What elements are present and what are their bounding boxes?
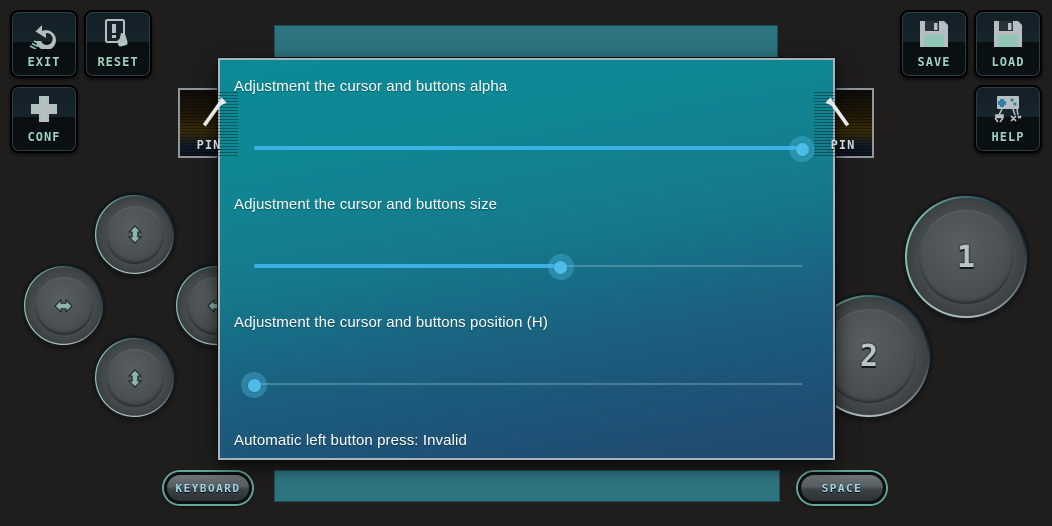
settings-dialog: Adjustment the cursor and buttons alpha … <box>218 58 835 460</box>
preference-cursor-size: Adjustment the cursor and buttons size <box>220 196 833 306</box>
exit-button[interactable]: EXIT <box>10 10 78 78</box>
slider-fill <box>254 146 802 150</box>
save-label: SAVE <box>918 55 951 69</box>
slider-thumb[interactable] <box>248 379 261 392</box>
load-button[interactable]: LOAD <box>974 10 1042 78</box>
preference-cursor-position-h: Adjustment the cursor and buttons positi… <box>220 314 833 424</box>
undo-arrow-icon <box>12 17 76 51</box>
action-button-1-label: 1 <box>957 240 975 275</box>
top-status-bar <box>274 25 778 59</box>
slider-thumb[interactable] <box>796 143 809 156</box>
arrow-left-icon <box>53 295 75 317</box>
floppy-disk-icon <box>976 17 1040 51</box>
cursor-position-h-slider[interactable] <box>254 369 802 399</box>
cursor-alpha-slider[interactable] <box>254 133 802 163</box>
pin-left-button[interactable]: PIN <box>178 88 240 158</box>
preference-title: Adjustment the cursor and buttons alpha <box>234 78 507 95</box>
help-button[interactable]: HELP <box>974 85 1042 153</box>
keyboard-button[interactable]: KEYBOARD <box>164 472 252 504</box>
preference-title: Adjustment the cursor and buttons positi… <box>234 314 548 331</box>
cursor-size-slider[interactable] <box>254 251 802 281</box>
preference-title: Adjustment the cursor and buttons size <box>234 196 497 213</box>
space-label: SPACE <box>822 482 863 495</box>
pin-slash-icon <box>180 92 238 138</box>
exit-label: EXIT <box>28 55 61 69</box>
conf-label: CONF <box>28 130 61 144</box>
pin-right-button[interactable]: PIN <box>812 88 874 158</box>
arrow-up-icon <box>124 224 146 246</box>
arrow-down-icon <box>124 367 146 389</box>
reset-hand-icon <box>86 17 150 51</box>
slider-track <box>254 383 802 385</box>
pin-left-label: PIN <box>197 138 222 152</box>
pin-right-label: PIN <box>831 138 856 152</box>
keyboard-label: KEYBOARD <box>176 482 241 495</box>
dpad-cross-icon <box>12 92 76 126</box>
load-label: LOAD <box>992 55 1025 69</box>
reset-button[interactable]: RESET <box>84 10 152 78</box>
conf-button[interactable]: CONF <box>10 85 78 153</box>
app-screen: EXIT RESET CONF <box>0 0 1052 526</box>
save-button[interactable]: SAVE <box>900 10 968 78</box>
space-button[interactable]: SPACE <box>798 472 886 504</box>
dpad-left-button[interactable] <box>24 266 103 345</box>
preference-cursor-alpha: Adjustment the cursor and buttons alpha <box>220 78 833 188</box>
help-label: HELP <box>992 130 1025 144</box>
bottom-status-bar <box>274 470 780 502</box>
gamepad-icon <box>976 92 1040 126</box>
action-button-1[interactable]: 1 <box>905 196 1027 318</box>
preference-auto-left-click[interactable]: Automatic left button press: Invalid <box>220 432 833 460</box>
reset-label: RESET <box>97 55 138 69</box>
floppy-disk-icon <box>902 17 966 51</box>
pin-slash-icon <box>814 92 872 138</box>
action-button-2-label: 2 <box>860 339 878 374</box>
dpad-down-button[interactable] <box>95 338 174 417</box>
preference-title: Automatic left button press: Invalid <box>234 432 467 449</box>
slider-fill <box>254 264 561 268</box>
dpad-up-button[interactable] <box>95 195 174 274</box>
